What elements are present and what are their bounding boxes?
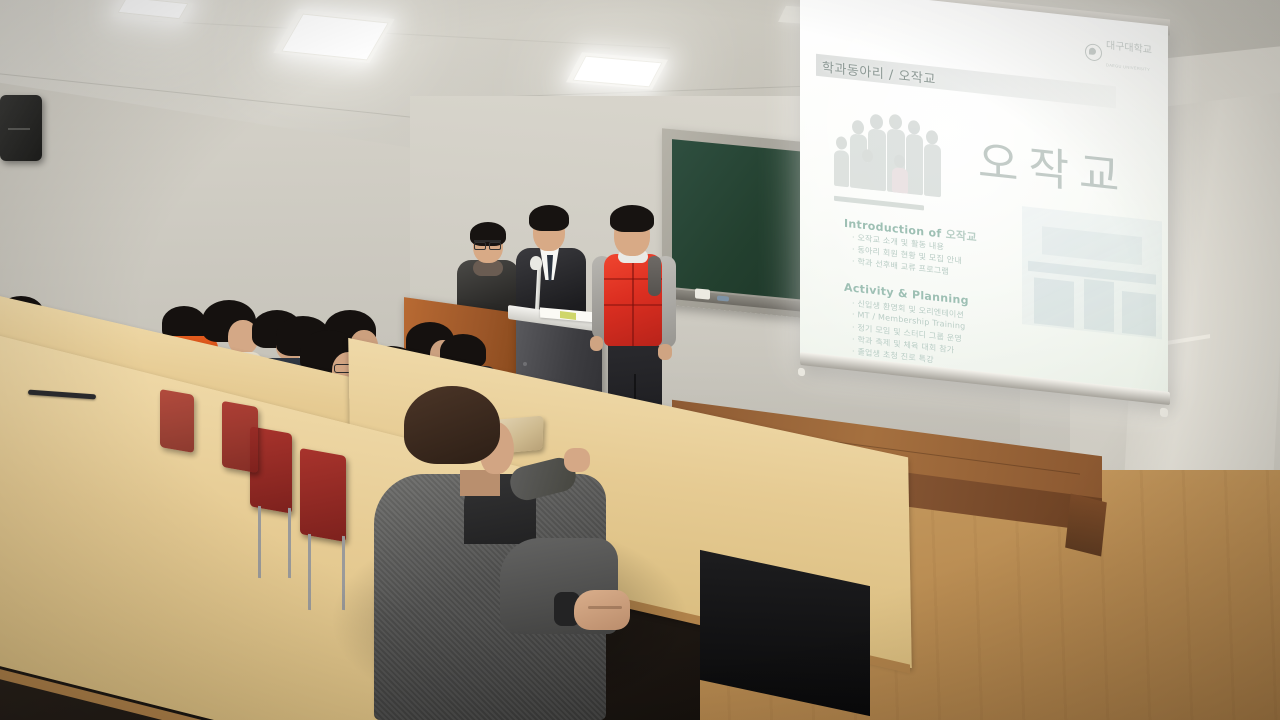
microphone-icon [530, 256, 542, 270]
slide-secondary-photo [1022, 206, 1162, 339]
projection-screen: 대구대학교 DAEGU UNIVERSITY 학과동아리 / 오작교 [800, 0, 1168, 404]
speaker-slot [8, 128, 30, 130]
chair-leg [308, 534, 311, 610]
presenter-hand [658, 344, 672, 360]
chair-leg [258, 506, 261, 578]
podium-fastener [523, 362, 527, 366]
logo-name: 대구대학교 [1106, 40, 1152, 56]
university-logo: 대구대학교 DAEGU UNIVERSITY [1085, 33, 1152, 76]
glasses-icon [474, 240, 501, 248]
logo-subtitle: DAEGU UNIVERSITY [1106, 62, 1150, 72]
chair [160, 389, 194, 453]
classroom-presentation-photo: 대구대학교 DAEGU UNIVERSITY 학과동아리 / 오작교 [0, 0, 1280, 720]
group-photo [832, 101, 954, 204]
chalk-icon [717, 295, 729, 301]
slide-wordmark: 오작교 [978, 125, 1129, 205]
hair [404, 386, 500, 464]
foreground-attendee [368, 378, 668, 720]
chair-leg [288, 508, 291, 578]
presenter-hair [610, 205, 654, 232]
screen-bar-cap [1160, 408, 1168, 418]
eraser-icon [695, 288, 710, 299]
hand [564, 448, 590, 472]
presenter-hand [590, 336, 603, 351]
chalkboard [672, 139, 816, 301]
university-emblem-icon [1085, 42, 1102, 61]
vest-shoulder-panel [648, 256, 661, 296]
clasped-hands [574, 590, 630, 630]
screen-bar-cap [798, 368, 805, 377]
chair [222, 401, 258, 473]
stage-platform-end [1065, 494, 1107, 557]
vest-zipper [632, 254, 634, 346]
presenter-hair [529, 205, 569, 231]
